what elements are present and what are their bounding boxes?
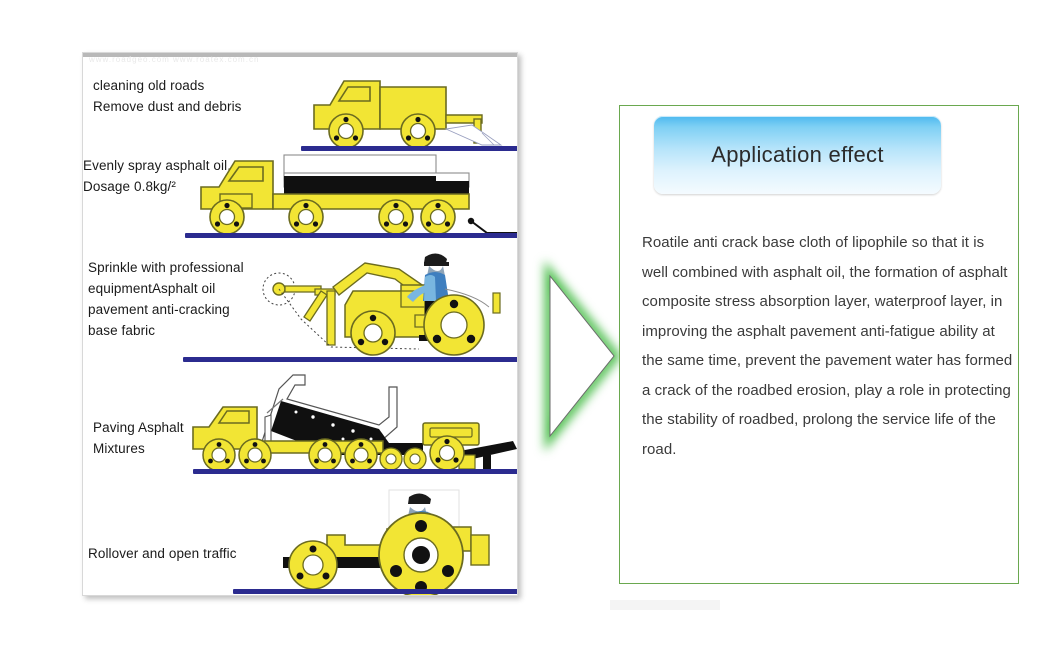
road-line-5 [233,589,518,594]
application-effect-panel: Application effect Roatile anti crack ba… [619,105,1019,584]
process-arrow [516,258,626,454]
process-step-2: Evenly spray asphalt oil, Dosage 0.8kg/² [83,147,517,247]
fabric-laying-machine-icon [249,245,518,375]
step-1-label: cleaning old roads Remove dust and debri… [93,75,303,117]
process-step-3: Sprinkle with professional equipmentAsph… [83,245,517,375]
application-effect-description: Roatile anti crack base cloth of lipophi… [642,228,1014,464]
process-steps-panel: www.roadgeo.com www.roatex.com.cn cleani… [82,52,518,596]
step-5-label: Rollover and open traffic [88,543,288,564]
watermark-text: www.roadgeo.com www.roatex.com.cn [89,55,319,67]
application-effect-badge: Application effect [654,116,941,194]
road-roller-icon [283,485,518,596]
step-3-label: Sprinkle with professional equipmentAsph… [88,257,268,341]
footer-smudge [610,600,720,610]
process-step-5: Rollover and open traffic [83,485,517,596]
slide-canvas: www.roadgeo.com www.roatex.com.cn cleani… [0,0,1056,654]
road-line-3 [183,357,518,362]
process-step-4: Paving Asphalt Mixtures [83,369,517,485]
road-line-2 [185,233,518,238]
asphalt-sprayer-truck-icon [179,147,518,247]
paver-truck-icon [183,369,518,485]
application-effect-title: Application effect [711,142,884,168]
road-line-4 [193,469,518,474]
